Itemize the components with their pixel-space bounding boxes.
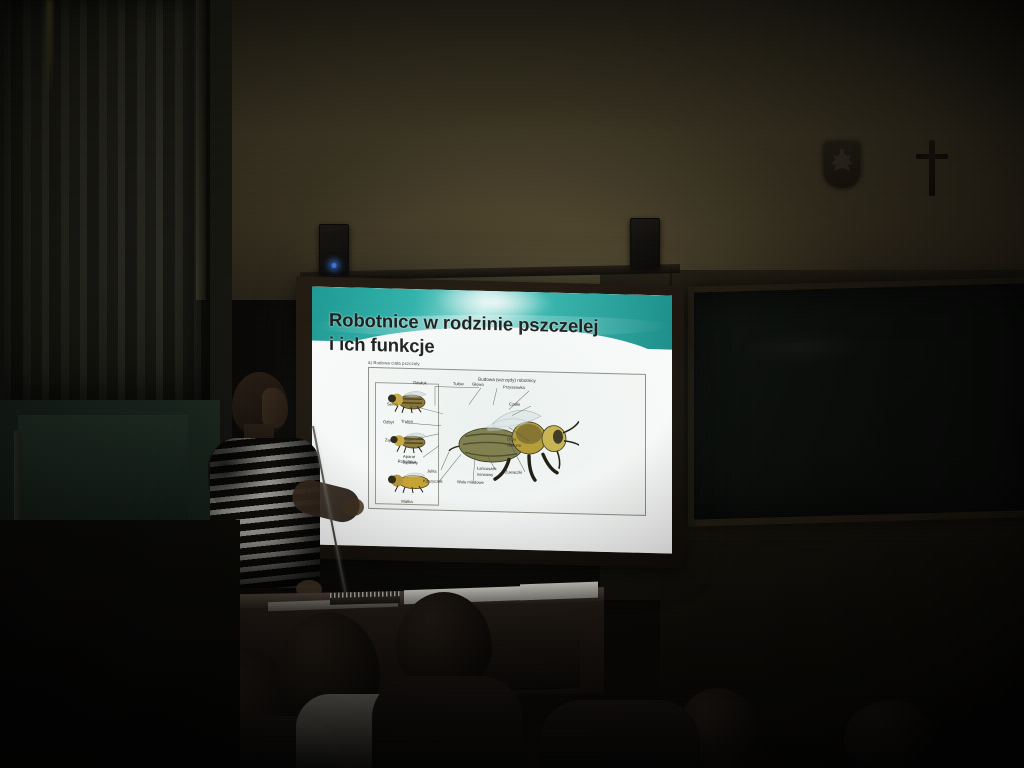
- presenter-face: [262, 388, 288, 428]
- crucifix-vertical: [929, 140, 935, 196]
- student-body: [372, 676, 522, 768]
- papers-stack: [520, 582, 598, 601]
- diagram-label: Koszyczek: [423, 479, 443, 484]
- power-led-icon: [332, 263, 337, 268]
- diagram-label: Czułki: [509, 402, 520, 407]
- presenter-hand: [342, 498, 364, 516]
- crucifix-horizontal: [916, 154, 948, 159]
- diagram-label: żądłowy: [403, 461, 418, 466]
- polish-eagle-emblem-icon: [824, 142, 860, 188]
- notebook-spiral: [330, 591, 400, 598]
- classroom-photo: Robotnice w rodzinie pszczelej i ich fun…: [0, 0, 1024, 768]
- presenter-shoulder-shadow: [208, 438, 270, 512]
- window-pane: [18, 415, 188, 535]
- diagram-label: Tułów: [453, 382, 464, 387]
- student-body: [540, 700, 700, 768]
- foreground-shadow-left: [0, 520, 240, 768]
- eagle-glyph: [824, 142, 860, 188]
- crucifix-icon: [916, 140, 948, 196]
- diagram-label: Jelita: [427, 469, 437, 474]
- diagram-label: Odwłok: [413, 381, 427, 386]
- diagram-label: Żądło: [385, 438, 395, 443]
- diagram-label: Wole miodowe: [457, 480, 484, 486]
- slide-title: Robotnice w rodzinie pszczelej i ich fun…: [329, 308, 659, 364]
- diagram-label: Żuwaczki: [505, 470, 522, 475]
- diagram-label: Przyssawka: [503, 385, 525, 390]
- curtain-light-gap: [46, 0, 53, 96]
- speaker-left: [319, 224, 349, 274]
- bee-anatomy-diagram: Budowa (wzrzędy) robotnicy: [368, 367, 646, 516]
- spiral-notebook: [330, 591, 400, 605]
- speaker-right: [630, 218, 660, 268]
- diagram-label: złożone: [507, 443, 521, 448]
- diagram-label: Odbyt: [383, 420, 394, 425]
- chalk-smudge: [744, 328, 864, 367]
- chalkboard-surface: [694, 283, 1024, 519]
- chalkboard: [688, 277, 1024, 526]
- diagram-label: Serce: [387, 402, 398, 407]
- diagram-label: Głowa: [472, 383, 484, 388]
- window-frame: [196, 0, 206, 300]
- window-curtain: [4, 0, 210, 420]
- diagram-label: nerwowy: [477, 473, 493, 478]
